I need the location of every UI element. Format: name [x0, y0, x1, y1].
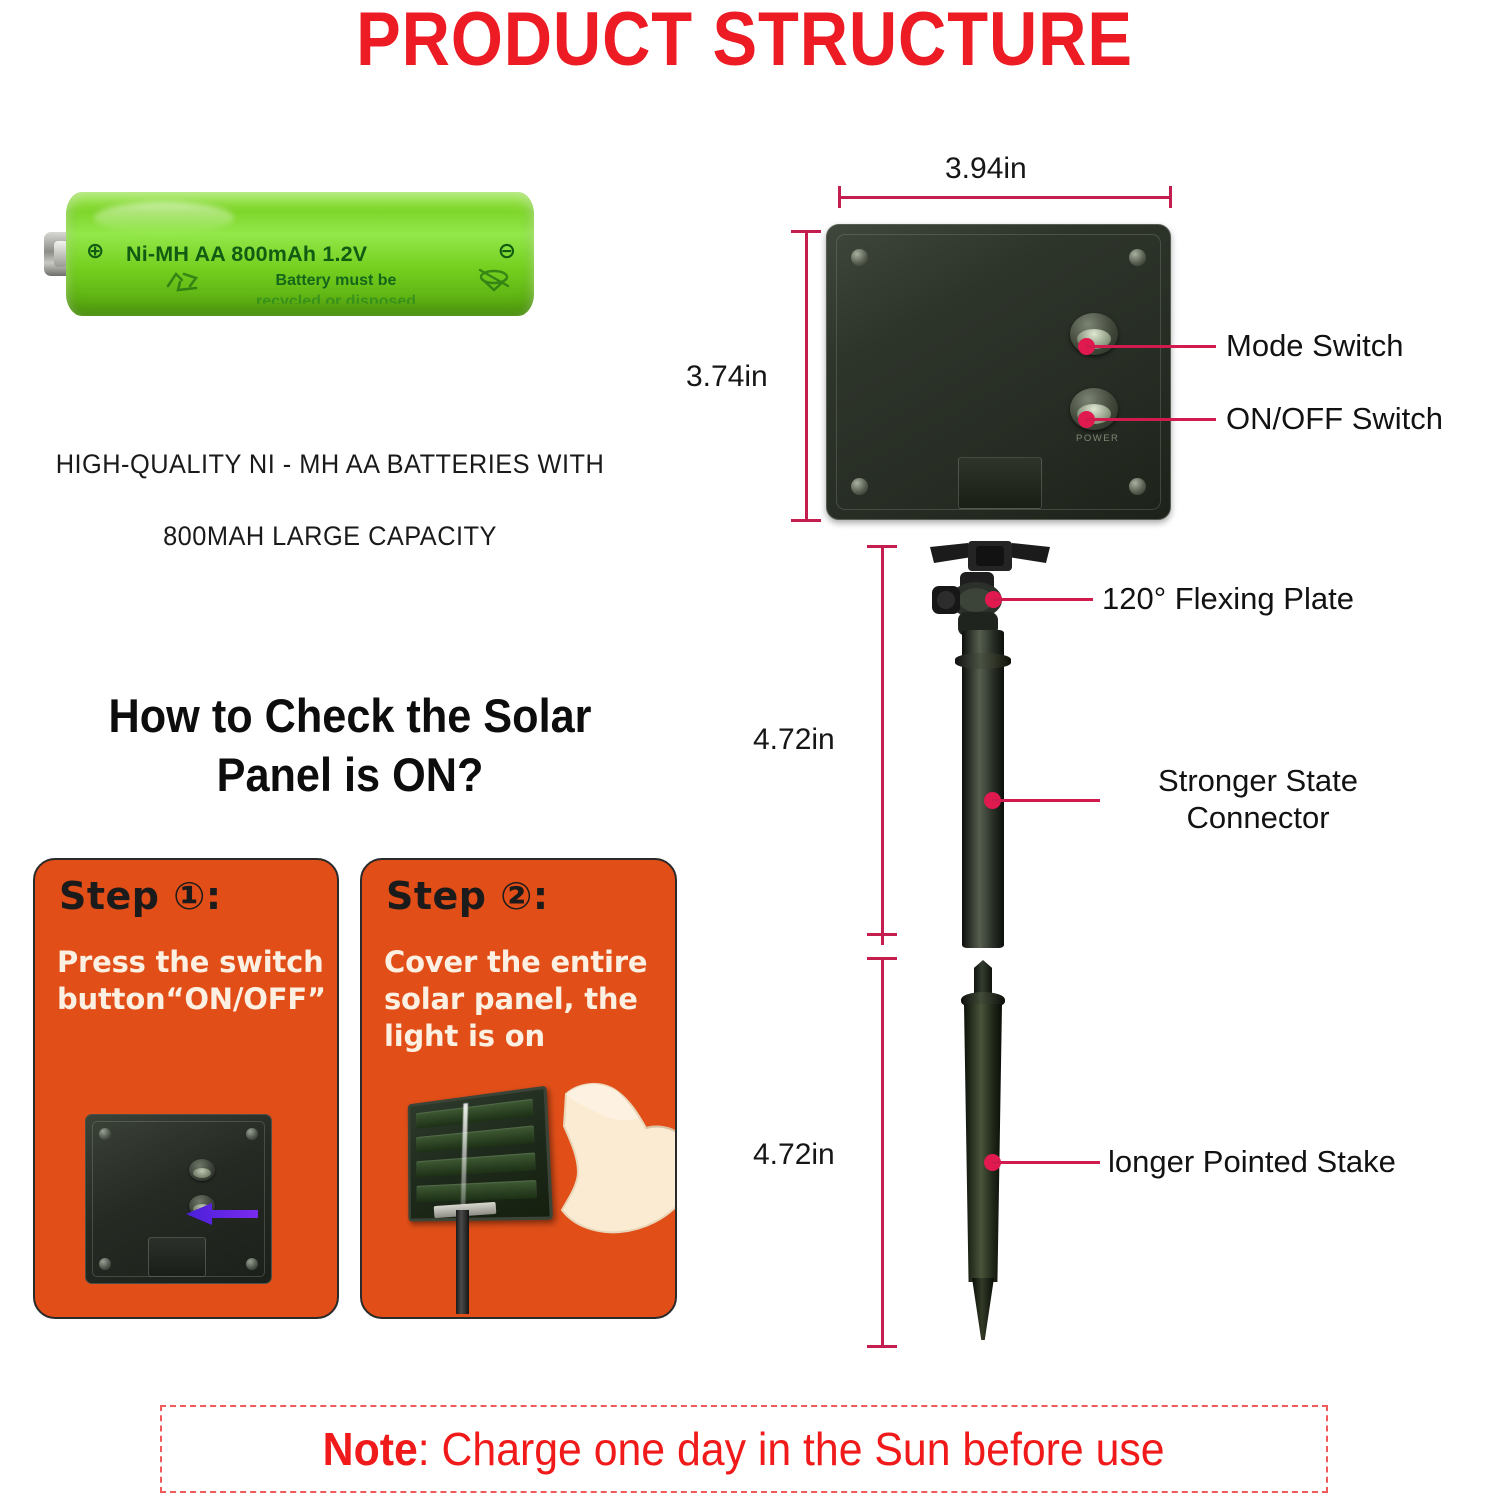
crossed-out-bin-icon: [472, 266, 516, 292]
pointing-arrow-icon: [182, 1201, 258, 1227]
callout-line-state-connector: [992, 799, 1100, 802]
page-title: PRODUCT STRUCTURE: [89, 0, 1399, 83]
battery-body: ⊕ Ni-MH AA 800mAh 1.2V ⊖ Battery must be…: [66, 192, 534, 316]
hand-icon: [526, 1082, 676, 1256]
dimension-line-panel-height: [805, 230, 808, 522]
callout-line-mode-switch: [1086, 345, 1216, 348]
battery-recycle-line1: Battery must be: [186, 272, 486, 290]
step-2-body-line1: Cover the entire: [384, 944, 664, 981]
screw-icon: [851, 478, 868, 495]
callout-line-onoff-switch: [1086, 418, 1216, 421]
dimension-label-panel-width: 3.94in: [945, 152, 1027, 186]
longer-pointed-stake: [958, 960, 1008, 1342]
step-2-body-line3: light is on: [384, 1018, 664, 1055]
callout-line-flexing-plate: [993, 598, 1093, 601]
dimension-cap: [867, 957, 897, 960]
note-prefix: Note: [323, 1423, 418, 1475]
step-1-body: Press the switch button“ON/OFF”: [57, 944, 337, 1018]
howto-heading: How to Check the Solar Panel is ON?: [28, 686, 672, 804]
dimension-cap: [867, 545, 897, 548]
step-1-body-line2: button“ON/OFF”: [57, 981, 337, 1018]
step-1-title: Step ①:: [59, 874, 222, 918]
screw-icon: [99, 1258, 111, 1270]
dimension-cap: [1169, 186, 1172, 208]
screw-icon: [99, 1128, 111, 1140]
battery-illustration: ⊕ Ni-MH AA 800mAh 1.2V ⊖ Battery must be…: [44, 178, 534, 328]
dimension-label-panel-height: 3.74in: [686, 360, 768, 394]
callout-label-state-connector-line1: Stronger State: [1108, 762, 1408, 799]
screw-icon: [246, 1128, 258, 1140]
dimension-line-stake: [881, 957, 884, 1347]
stake-top-nub: [974, 960, 992, 996]
step-2-body-line2: solar panel, the: [384, 981, 664, 1018]
dimension-cap: [791, 230, 821, 233]
screw-icon: [851, 249, 868, 266]
connector-collar: [955, 653, 1011, 669]
dimension-label-connector: 4.72in: [753, 723, 835, 757]
solar-panel-back-photo: [85, 1114, 272, 1284]
step-1-card: Step ①: Press the switch button“ON/OFF”: [33, 858, 339, 1319]
stake-tip: [972, 1278, 994, 1340]
note-text: Note: Charge one day in the Sun before u…: [323, 1422, 1165, 1476]
callout-label-mode-switch: Mode Switch: [1226, 327, 1403, 364]
power-label: POWER: [1076, 433, 1119, 444]
pivot-joint: [930, 572, 1016, 638]
callout-label-onoff-switch: ON/OFF Switch: [1226, 400, 1443, 437]
mode-switch-button: [189, 1159, 215, 1181]
dimension-cap: [838, 186, 841, 208]
solar-panel-back-diagram: POWER: [826, 224, 1171, 520]
flexing-plate-bracket: [928, 541, 1052, 575]
dimension-cap: [867, 1345, 897, 1348]
onoff-switch-button[interactable]: [1070, 388, 1118, 430]
battery-caption-line2: 800MAH LARGE CAPACITY: [20, 500, 640, 572]
screw-icon: [246, 1258, 258, 1270]
recycle-icon: [162, 268, 206, 294]
battery-spec-label: Ni-MH AA 800mAh 1.2V: [126, 242, 526, 267]
howto-heading-line1: How to Check the Solar: [28, 686, 672, 745]
callout-line-pointed-stake: [992, 1161, 1100, 1164]
step-2-title: Step ②:: [386, 874, 549, 918]
stake-body: [964, 1004, 1002, 1282]
battery-caption: HIGH-QUALITY NI - MH AA BATTERIES WITH 8…: [20, 428, 640, 572]
battery-caption-line1: HIGH-QUALITY NI - MH AA BATTERIES WITH: [20, 428, 640, 500]
step-2-body: Cover the entire solar panel, the light …: [384, 944, 664, 1055]
dimension-line-connector: [881, 545, 884, 945]
battery-highlight: [94, 202, 234, 234]
battery-minus-icon: ⊖: [498, 238, 516, 264]
callout-label-state-connector-line2: Connector: [1108, 799, 1408, 836]
step-2-card: Step ②: Cover the entire solar panel, th…: [360, 858, 677, 1319]
howto-heading-line2: Panel is ON?: [28, 745, 672, 804]
panel-bottom-tab: [148, 1237, 206, 1277]
battery-recycle-line2: recycled or disposed: [176, 293, 496, 311]
panel-pole: [456, 1210, 469, 1314]
callout-label-pointed-stake: longer Pointed Stake: [1108, 1143, 1396, 1180]
note-body: : Charge one day in the Sun before use: [418, 1423, 1165, 1475]
callout-label-flexing-plate: 120° Flexing Plate: [1102, 580, 1354, 617]
dimension-label-stake: 4.72in: [753, 1138, 835, 1172]
dimension-line-panel-width: [838, 196, 1172, 199]
note-box: Note: Charge one day in the Sun before u…: [160, 1405, 1328, 1493]
step-1-body-line1: Press the switch: [57, 944, 337, 981]
screw-icon: [1129, 478, 1146, 495]
hand-covering-solar-panel-photo: [376, 1082, 676, 1314]
battery-plus-icon: ⊕: [86, 238, 104, 264]
callout-label-state-connector: Stronger State Connector: [1108, 762, 1408, 836]
stronger-state-connector-tube: [962, 630, 1004, 948]
dimension-cap: [791, 519, 821, 522]
screw-icon: [1129, 249, 1146, 266]
panel-bottom-tab: [958, 457, 1042, 509]
dimension-cap: [867, 933, 897, 936]
